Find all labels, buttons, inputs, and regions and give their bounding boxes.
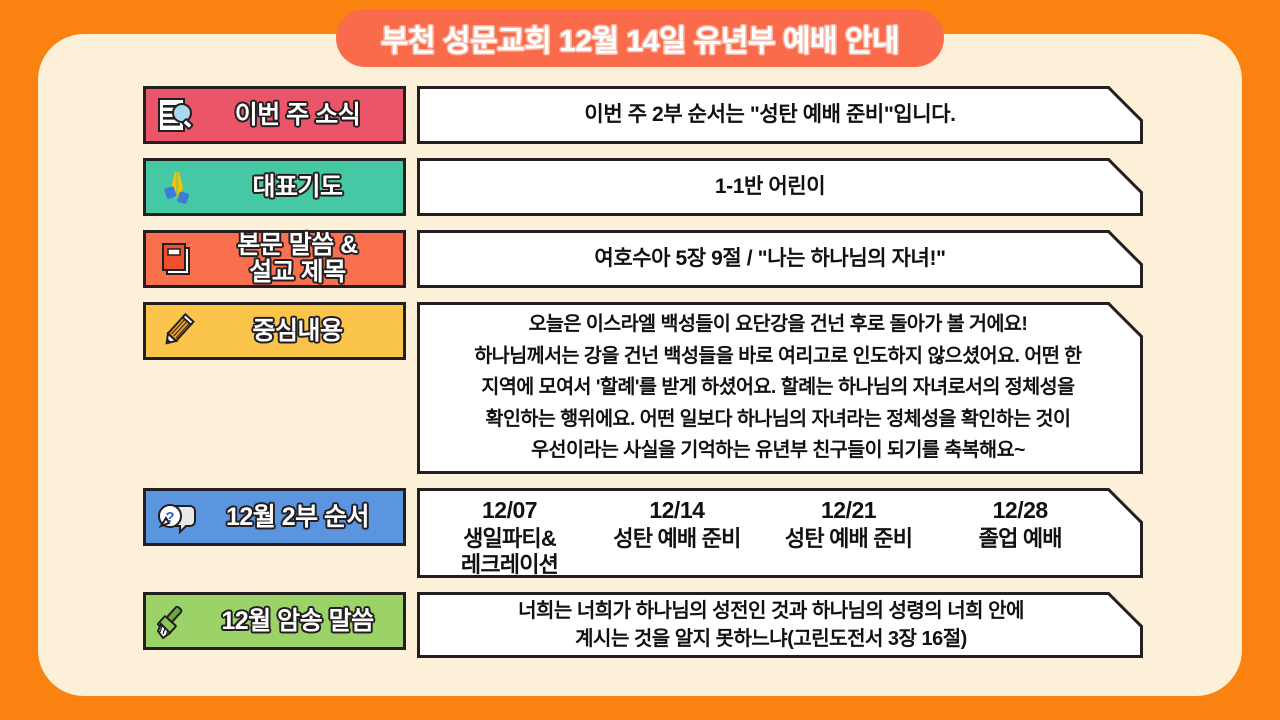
panel-text: 여호수아 5장 9절 / "나는 하나님의 자녀!" — [574, 241, 985, 277]
schedule-date: 12/14 — [591, 497, 763, 524]
panel-body: 12/07 생일파티& 레크레이션 12/14 성탄 예배 준비 12/21 성… — [417, 488, 1143, 578]
schedule-column: 12/28 졸업 예배 — [934, 497, 1106, 552]
label-text: 12월 암송 말씀 — [202, 608, 397, 635]
panel-main-message: 오늘은 이스라엘 백성들이 요단강을 건넌 후로 돌아가 볼 거에요! 하나님께… — [417, 302, 1143, 474]
speech-bubble-question-icon: ? — [152, 495, 202, 539]
label-representative-prayer: 대표기도 — [143, 158, 406, 216]
svg-text:?: ? — [165, 509, 174, 526]
document-search-icon — [152, 93, 202, 137]
panel-body: 너희는 너희가 하나님의 성전인 것과 하나님의 성령의 너희 안에 계시는 것… — [417, 592, 1143, 658]
panel-text: 너희는 너희가 하나님의 성전인 것과 하나님의 성령의 너희 안에 계시는 것… — [496, 595, 1064, 656]
panel-body: 1-1반 어린이 — [417, 158, 1143, 216]
label-text: 중심내용 — [202, 318, 397, 345]
label-scripture-sermon: 본문 말씀 & 설교 제목 — [143, 230, 406, 288]
panel-text: 1-1반 어린이 — [695, 169, 865, 205]
schedule-grid: 12/07 생일파티& 레크레이션 12/14 성탄 예배 준비 12/21 성… — [420, 491, 1140, 575]
poster-root: 부천 성문교회 12월 14일 유년부 예배 안내 이번 주 소식 — [0, 0, 1280, 720]
schedule-column: 12/07 생일파티& 레크레이션 — [428, 497, 591, 578]
praying-hands-icon — [152, 165, 202, 209]
panel-december-schedule: 12/07 생일파티& 레크레이션 12/14 성탄 예배 준비 12/21 성… — [417, 488, 1143, 578]
label-text: 12월 2부 순서 — [202, 504, 397, 531]
row-memory-verse: 12월 암송 말씀 너희는 너희가 하나님의 성전인 것과 하나님의 성령의 너… — [143, 592, 1143, 658]
label-text: 대표기도 — [202, 174, 397, 201]
panel-text: 오늘은 이스라엘 백성들이 요단강을 건넌 후로 돌아가 볼 거에요! 하나님께… — [448, 303, 1111, 473]
label-december-schedule: ? 12월 2부 순서 — [143, 488, 406, 546]
panel-text: 이번 주 2부 순서는 "성탄 예배 준비"입니다. — [564, 97, 995, 133]
panel-scripture-sermon: 여호수아 5장 9절 / "나는 하나님의 자녀!" — [417, 230, 1143, 288]
label-text: 본문 말씀 & 설교 제목 — [202, 232, 397, 286]
label-text: 이번 주 소식 — [202, 102, 397, 129]
label-memory-verse: 12월 암송 말씀 — [143, 592, 406, 650]
panel-representative-prayer: 1-1반 어린이 — [417, 158, 1143, 216]
announcement-rows: 이번 주 소식 이번 주 2부 순서는 "성탄 예배 준비"입니다. — [143, 86, 1143, 672]
panel-weekly-news: 이번 주 2부 순서는 "성탄 예배 준비"입니다. — [417, 86, 1143, 144]
schedule-date: 12/07 — [428, 497, 591, 524]
schedule-description: 성탄 예배 준비 — [591, 526, 763, 552]
paintbrush-icon — [152, 599, 202, 643]
row-december-schedule: ? 12월 2부 순서 12/07 생일파티& 레크레이션 12/14 성탄 예… — [143, 488, 1143, 578]
schedule-date: 12/28 — [934, 497, 1106, 524]
schedule-description: 생일파티& 레크레이션 — [428, 526, 591, 578]
row-scripture-sermon: 본문 말씀 & 설교 제목 여호수아 5장 9절 / "나는 하나님의 자녀!" — [143, 230, 1143, 288]
panel-body: 이번 주 2부 순서는 "성탄 예배 준비"입니다. — [417, 86, 1143, 144]
title-banner: 부천 성문교회 12월 14일 유년부 예배 안내 — [336, 9, 944, 67]
label-weekly-news: 이번 주 소식 — [143, 86, 406, 144]
row-representative-prayer: 대표기도 1-1반 어린이 — [143, 158, 1143, 216]
panel-body: 여호수아 5장 9절 / "나는 하나님의 자녀!" — [417, 230, 1143, 288]
row-weekly-news: 이번 주 소식 이번 주 2부 순서는 "성탄 예배 준비"입니다. — [143, 86, 1143, 144]
panel-body: 오늘은 이스라엘 백성들이 요단강을 건넌 후로 돌아가 볼 거에요! 하나님께… — [417, 302, 1143, 474]
schedule-column: 12/14 성탄 예배 준비 — [591, 497, 763, 552]
pencil-icon — [152, 309, 202, 353]
schedule-description: 성탄 예배 준비 — [763, 526, 935, 552]
schedule-description: 졸업 예배 — [934, 526, 1106, 552]
panel-memory-verse: 너희는 너희가 하나님의 성전인 것과 하나님의 성령의 너희 안에 계시는 것… — [417, 592, 1143, 658]
schedule-date: 12/21 — [763, 497, 935, 524]
row-main-message: 중심내용 오늘은 이스라엘 백성들이 요단강을 건넌 후로 돌아가 볼 거에요!… — [143, 302, 1143, 474]
schedule-column: 12/21 성탄 예배 준비 — [763, 497, 935, 552]
book-icon — [152, 237, 202, 281]
page-title: 부천 성문교회 12월 14일 유년부 예배 안내 — [381, 16, 899, 60]
label-main-message: 중심내용 — [143, 302, 406, 360]
